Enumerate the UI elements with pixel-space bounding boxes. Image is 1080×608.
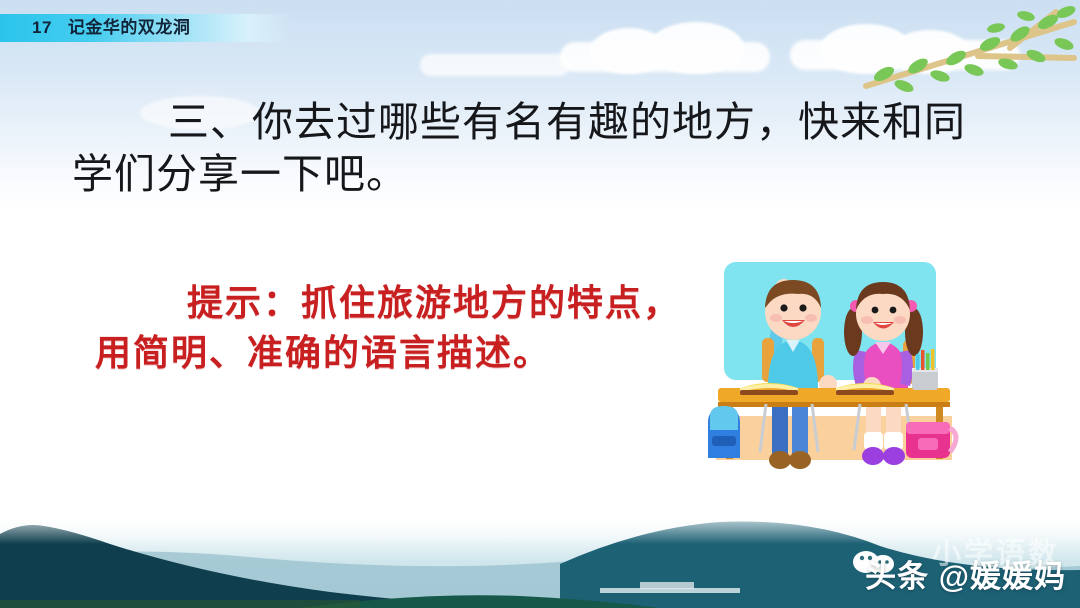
pink-bag bbox=[906, 422, 956, 458]
tree-branch-icon bbox=[860, 0, 1080, 110]
page-title: 记金华的双龙洞 bbox=[68, 18, 191, 37]
students-illustration bbox=[700, 246, 968, 490]
cloud-shape bbox=[420, 54, 570, 76]
watermark-handle: 头条 @媛媛妈 bbox=[865, 551, 1066, 596]
cloud-shape bbox=[648, 22, 744, 74]
lesson-number: 17 bbox=[32, 18, 52, 37]
watermark: 小学语数 头条 @媛媛妈 bbox=[842, 528, 1072, 602]
breadcrumb: 17记金华的双龙洞 bbox=[32, 15, 190, 41]
question-text: 三、你去过哪些有名有趣的地方，快来和同学们分享一下吧。 bbox=[72, 96, 1002, 200]
blue-backpack bbox=[708, 406, 740, 458]
slide-canvas: 17记金华的双龙洞 三、你去过哪些有名有趣的地方，快来和同学们分享一下 bbox=[0, 0, 1080, 608]
hint-text: 提示：抓住旅游地方的特点，用简明、准确的语言描述。 bbox=[95, 278, 695, 378]
